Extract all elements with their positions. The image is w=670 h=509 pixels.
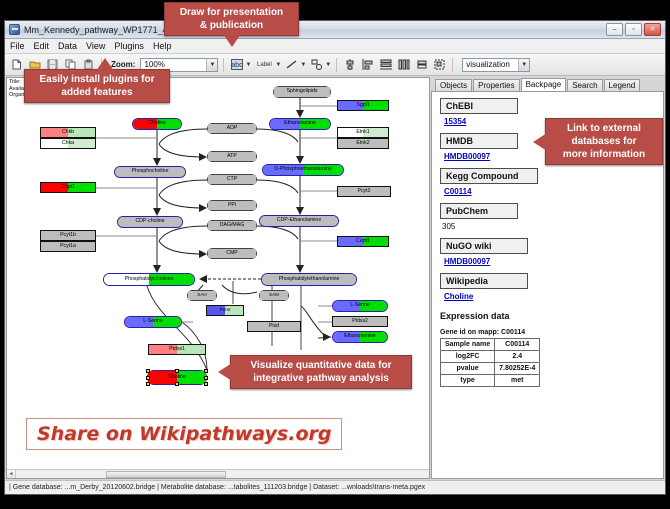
expression-value: met bbox=[495, 375, 540, 387]
annotation-visualize-line2: integrative pathway analysis bbox=[238, 372, 404, 385]
annotation-share-box: Share on Wikipathways.org bbox=[26, 418, 342, 450]
metabolite-node-ethanolamine[interactable]: Ethanolamine bbox=[332, 331, 388, 343]
annotation-draw-line1: Draw for presentation bbox=[172, 6, 291, 19]
selection-handle[interactable] bbox=[146, 376, 150, 380]
node-label: PPi bbox=[228, 203, 236, 208]
gene-node-chkb[interactable]: Chkb bbox=[40, 127, 96, 138]
node-label: CDP-Ethanolamine bbox=[277, 218, 321, 223]
node-label: Ptdss2 bbox=[352, 319, 368, 324]
selection-handle[interactable] bbox=[146, 382, 150, 386]
chevron-down-icon[interactable]: ▼ bbox=[300, 62, 306, 68]
statusbar: | Gene database: ...m_Derby_20120602.bri… bbox=[5, 480, 665, 494]
metabolite-node-adp[interactable]: ADP bbox=[207, 123, 257, 134]
metabolite-node-choline[interactable]: Choline bbox=[132, 118, 182, 130]
annotation-link-line1: Link to external bbox=[553, 122, 655, 135]
node-label: L-Serine bbox=[143, 319, 163, 324]
node-label: Chka bbox=[62, 141, 74, 146]
node-label: DAG/MAG bbox=[220, 223, 245, 228]
new-file-icon[interactable] bbox=[9, 57, 24, 72]
shape-tool-dropdown[interactable]: ▼ bbox=[309, 57, 331, 72]
group-icon[interactable] bbox=[432, 57, 447, 72]
callout-tail-left-icon bbox=[533, 133, 547, 151]
node-label: Pemt bbox=[220, 308, 231, 313]
annotation-draw-callout: Draw for presentation & publication bbox=[164, 2, 299, 36]
svg-text:abc: abc bbox=[231, 62, 243, 69]
close-button[interactable]: ✕ bbox=[644, 23, 661, 36]
tab-backpage[interactable]: Backpage bbox=[521, 78, 567, 91]
align-center-icon[interactable] bbox=[342, 57, 357, 72]
minimize-button[interactable]: – bbox=[606, 23, 623, 36]
metabolite-node-atp[interactable]: ATP bbox=[207, 151, 257, 162]
node-label: Etnk2 bbox=[356, 141, 369, 146]
node-label: Phosphatidylcholines bbox=[125, 277, 174, 282]
node-label: O-Phosphoethanolamine bbox=[274, 167, 331, 172]
annotation-link-line3: more information bbox=[553, 148, 655, 161]
hmdb-header: HMDB bbox=[440, 133, 518, 149]
metabolite-node-sah[interactable]: SAH bbox=[187, 290, 217, 301]
gene-node-pemt[interactable]: Pemt bbox=[206, 305, 244, 316]
stack-icon[interactable] bbox=[414, 57, 429, 72]
pathvisio-icon bbox=[9, 24, 20, 35]
expression-key: type bbox=[441, 375, 495, 387]
toolbar-separator bbox=[336, 58, 337, 72]
tab-legend[interactable]: Legend bbox=[604, 79, 641, 91]
kegg-compound-header: Kegg Compound bbox=[440, 168, 538, 184]
menu-file[interactable]: File bbox=[10, 41, 25, 51]
text-tool-dropdown[interactable]: abc ▼ bbox=[229, 57, 251, 72]
metabolite-node-cdp-choline[interactable]: CDP-choline bbox=[117, 216, 183, 228]
hmdb-link[interactable]: HMDB00097 bbox=[444, 152, 490, 161]
metabolite-node-l-serine[interactable]: L-Serine bbox=[332, 300, 388, 312]
tab-properties[interactable]: Properties bbox=[473, 79, 519, 91]
nugo-wiki-header: NuGO wiki bbox=[440, 238, 528, 254]
screenshot-root: Mm_Kennedy_pathway_WP1771_45176.gpml – ▫… bbox=[0, 0, 670, 509]
expression-row: log2FC2.4 bbox=[441, 351, 540, 363]
node-label: Sphingolipids bbox=[287, 89, 318, 94]
menu-data[interactable]: Data bbox=[58, 41, 77, 51]
metabolite-node-phosphocholine[interactable]: Phosphocholine bbox=[114, 166, 186, 178]
align-left-icon[interactable] bbox=[360, 57, 375, 72]
expression-value: C00114 bbox=[495, 339, 540, 351]
metabolite-node-ethanolamine[interactable]: Ethanolamine bbox=[269, 118, 331, 130]
chebi-header: ChEBI bbox=[440, 98, 518, 114]
menu-view[interactable]: View bbox=[86, 41, 105, 51]
selection-handle[interactable] bbox=[204, 376, 208, 380]
line-tool-icon[interactable] bbox=[284, 57, 299, 72]
chevron-down-icon[interactable]: ▼ bbox=[206, 59, 217, 71]
annotation-visualize-callout: Visualize quantitative data for integrat… bbox=[230, 355, 412, 389]
toolbar-separator bbox=[223, 58, 224, 72]
node-label: Cept1 bbox=[356, 239, 370, 244]
metabolite-node-cmp[interactable]: CMP bbox=[207, 248, 257, 259]
label-tool-icon[interactable]: Label bbox=[254, 57, 274, 72]
node-label: Ethanolamine bbox=[284, 121, 316, 126]
node-label: Phosphocholine bbox=[132, 169, 169, 174]
kegg-compound-link[interactable]: C00114 bbox=[444, 187, 472, 196]
gene-node-pcyt1a[interactable]: Pcyt1a bbox=[40, 241, 96, 252]
selection-handle[interactable] bbox=[204, 369, 208, 373]
metabolite-node-phosphatidylcholines[interactable]: Phosphatidylcholines bbox=[103, 273, 195, 286]
gene-node-chka[interactable]: Chka bbox=[40, 138, 96, 149]
node-label: Chpt1 bbox=[61, 185, 75, 190]
gene-id-line: Gene id on mapp: C00114 bbox=[440, 329, 655, 336]
callout-tail-up-icon bbox=[96, 58, 114, 71]
node-label: Pcyt1b bbox=[60, 233, 76, 238]
menu-plugins[interactable]: Plugins bbox=[114, 41, 144, 51]
wikipedia-link[interactable]: Choline bbox=[444, 292, 473, 301]
gene-node-cept1[interactable]: Cept1 bbox=[337, 236, 389, 247]
annotation-draw-line2: & publication bbox=[172, 19, 291, 32]
scroll-left-icon[interactable]: ◄ bbox=[7, 470, 16, 478]
chevron-down-icon[interactable]: ▼ bbox=[518, 59, 529, 71]
node-label: CDP-choline bbox=[135, 219, 164, 224]
text-tool-icon[interactable]: abc bbox=[229, 57, 244, 72]
selection-handle[interactable] bbox=[146, 369, 150, 373]
selection-handle[interactable] bbox=[175, 369, 179, 373]
node-label: Pcyt1a bbox=[60, 244, 76, 249]
gene-node-ptdss1[interactable]: Ptdss1 bbox=[148, 344, 206, 355]
metabolite-node-phosphatidylethanolamine[interactable]: Phosphatidylethanolamine bbox=[261, 273, 357, 286]
node-label: Chkb bbox=[62, 130, 74, 135]
label-tool-text: Label bbox=[257, 62, 272, 68]
gene-node-pcyt1b[interactable]: Pcyt1b bbox=[40, 230, 96, 241]
maximize-button[interactable]: ▫ bbox=[625, 23, 642, 36]
scrollbar-thumb[interactable] bbox=[106, 471, 226, 478]
canvas-hscrollbar[interactable]: ◄ bbox=[7, 469, 429, 478]
distribute-horizontal-icon[interactable] bbox=[396, 57, 411, 72]
metabolite-node-choline[interactable]: Choline bbox=[147, 370, 207, 385]
pubchem-value: 305 bbox=[442, 222, 455, 231]
gene-node-ptdss2[interactable]: Ptdss2 bbox=[332, 316, 388, 327]
chebi-link[interactable]: 15354 bbox=[444, 117, 466, 126]
node-label: SAH bbox=[197, 293, 206, 298]
metabolite-node-sphingolipids[interactable]: Sphingolipids bbox=[273, 86, 331, 98]
node-label: Sgpl1 bbox=[356, 103, 369, 108]
statusbar-text: | Gene database: ...m_Derby_20120602.bri… bbox=[9, 484, 425, 491]
gene-node-pisd[interactable]: Pisd bbox=[247, 321, 301, 332]
expression-table: Sample nameC00114log2FC2.4pvalue7.80252E… bbox=[440, 338, 540, 387]
annotation-link-callout: Link to external databases for more info… bbox=[545, 118, 663, 165]
annotation-plugins-line2: added features bbox=[32, 86, 162, 99]
node-label: Choline bbox=[148, 121, 166, 126]
label-tool-dropdown[interactable]: Label ▼ bbox=[254, 57, 281, 72]
distribute-vertical-icon[interactable] bbox=[378, 57, 393, 72]
expression-row: Sample nameC00114 bbox=[441, 339, 540, 351]
metabolite-node-cdp-ethanolamine[interactable]: CDP-Ethanolamine bbox=[259, 215, 339, 227]
callout-tail-left-icon bbox=[218, 363, 232, 381]
metabolite-node-dag-mag[interactable]: DAG/MAG bbox=[207, 220, 257, 231]
node-label: CMP bbox=[226, 251, 238, 256]
metabolite-node-sam[interactable]: SAM bbox=[259, 290, 289, 301]
node-label: Pisd bbox=[269, 324, 279, 329]
expression-data-header: Expression data bbox=[440, 311, 655, 321]
wikipedia-header: Wikipedia bbox=[440, 273, 528, 289]
node-label: Pcyt2 bbox=[358, 189, 371, 194]
node-label: ATP bbox=[227, 154, 237, 159]
gene-node-pcyt2[interactable]: Pcyt2 bbox=[337, 186, 391, 197]
annotation-plugins-callout: Easily install plugins for added feature… bbox=[24, 69, 170, 103]
expression-row: pvalue7.80252E-4 bbox=[441, 363, 540, 375]
menubar: File Edit Data View Plugins Help bbox=[5, 39, 665, 54]
window-titlebar: Mm_Kennedy_pathway_WP1771_45176.gpml – ▫… bbox=[5, 21, 665, 39]
gene-node-etnk2[interactable]: Etnk2 bbox=[337, 138, 389, 149]
tab-objects[interactable]: Objects bbox=[435, 79, 472, 91]
node-label: L-Serine bbox=[350, 303, 370, 308]
menu-edit[interactable]: Edit bbox=[34, 41, 50, 51]
zoom-value: 100% bbox=[144, 60, 164, 69]
expression-key: log2FC bbox=[441, 351, 495, 363]
gene-node-chpt1[interactable]: Chpt1 bbox=[40, 182, 96, 193]
toolbar-separator bbox=[452, 58, 453, 72]
expression-key: pvalue bbox=[441, 363, 495, 375]
visualization-value: visualization bbox=[466, 60, 510, 69]
chevron-down-icon[interactable]: ▼ bbox=[325, 62, 331, 68]
visualization-combobox[interactable]: visualization ▼ bbox=[462, 58, 530, 72]
tab-search[interactable]: Search bbox=[567, 79, 602, 91]
node-label: Phosphatidylethanolamine bbox=[279, 277, 340, 282]
callout-tail-down-icon bbox=[223, 34, 241, 47]
pubchem-header: PubChem bbox=[440, 203, 518, 219]
nugo-wiki-link[interactable]: HMDB00097 bbox=[444, 257, 490, 266]
metabolite-node-l-serine[interactable]: L-Serine bbox=[124, 316, 182, 328]
node-label: Ptdss1 bbox=[169, 347, 185, 352]
line-tool-dropdown[interactable]: ▼ bbox=[284, 57, 306, 72]
selection-handle[interactable] bbox=[175, 382, 179, 386]
sidebar-tabs: Objects Properties Backpage Search Legen… bbox=[431, 77, 664, 91]
zoom-label: Zoom: bbox=[111, 60, 135, 69]
node-label: ADP bbox=[227, 126, 238, 131]
annotation-visualize-line1: Visualize quantitative data for bbox=[238, 359, 404, 372]
window-buttons: – ▫ ✕ bbox=[606, 23, 661, 36]
selection-handle[interactable] bbox=[204, 382, 208, 386]
node-label: Ethanolamine bbox=[344, 334, 376, 339]
chevron-down-icon[interactable]: ▼ bbox=[275, 62, 281, 68]
expression-value: 2.4 bbox=[495, 351, 540, 363]
node-label: Choline bbox=[168, 375, 186, 380]
expression-value: 7.80252E-4 bbox=[495, 363, 540, 375]
metabolite-node-ppi[interactable]: PPi bbox=[207, 200, 257, 211]
node-label: SAM bbox=[269, 293, 279, 298]
metabolite-node-o-phosphoethanolamine[interactable]: O-Phosphoethanolamine bbox=[262, 164, 344, 176]
annotation-link-line2: databases for bbox=[553, 135, 655, 148]
node-label: Etnk1 bbox=[356, 130, 369, 135]
metabolite-node-ctp[interactable]: CTP bbox=[207, 174, 257, 185]
shape-tool-icon[interactable] bbox=[309, 57, 324, 72]
node-label: CTP bbox=[227, 177, 237, 182]
gene-node-sgpl1[interactable]: Sgpl1 bbox=[337, 100, 389, 111]
annotation-plugins-line1: Easily install plugins for bbox=[32, 73, 162, 86]
expression-row: typemet bbox=[441, 375, 540, 387]
menu-help[interactable]: Help bbox=[153, 41, 172, 51]
expression-key: Sample name bbox=[441, 339, 495, 351]
gene-node-etnk1[interactable]: Etnk1 bbox=[337, 127, 389, 138]
annotation-share-text: Share on Wikipathways.org bbox=[37, 423, 331, 445]
chevron-down-icon[interactable]: ▼ bbox=[245, 62, 251, 68]
